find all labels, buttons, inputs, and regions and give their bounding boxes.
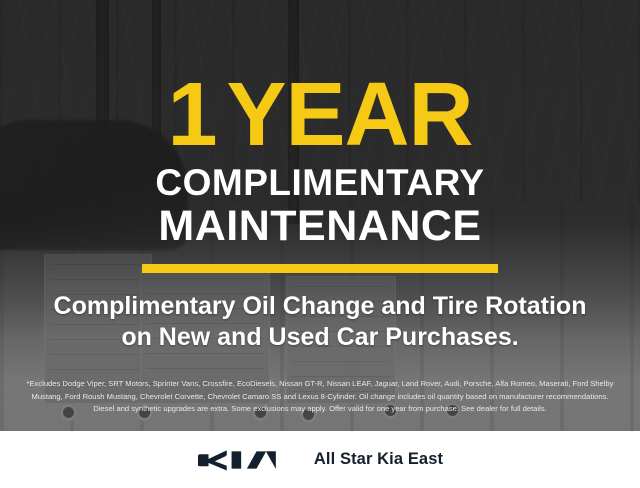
disclaimer-text: *Excludes Dodge Viper, SRT Motors, Sprin… [20, 378, 620, 415]
offer-description: Complimentary Oil Change and Tire Rotati… [54, 291, 587, 352]
headline-maintenance: MAINTENANCE [158, 205, 481, 248]
yellow-divider-bar [142, 264, 498, 273]
banner-content: 1YEAR COMPLIMENTARY MAINTENANCE Complime… [0, 0, 640, 431]
kia-logo [197, 447, 293, 473]
offer-description-line-2: on New and Used Car Purchases. [54, 322, 587, 353]
offer-description-line-1: Complimentary Oil Change and Tire Rotati… [54, 291, 587, 322]
headline-duration-unit: YEAR [227, 65, 473, 165]
headline-complimentary: COMPLIMENTARY [155, 164, 484, 201]
headline-duration-number: 1 [167, 65, 216, 165]
headline-duration: 1YEAR [167, 72, 472, 158]
maintenance-offer-banner: 1YEAR COMPLIMENTARY MAINTENANCE Complime… [0, 0, 640, 488]
banner-footer: All Star Kia East [0, 431, 640, 488]
dealer-name: All Star Kia East [314, 450, 443, 469]
